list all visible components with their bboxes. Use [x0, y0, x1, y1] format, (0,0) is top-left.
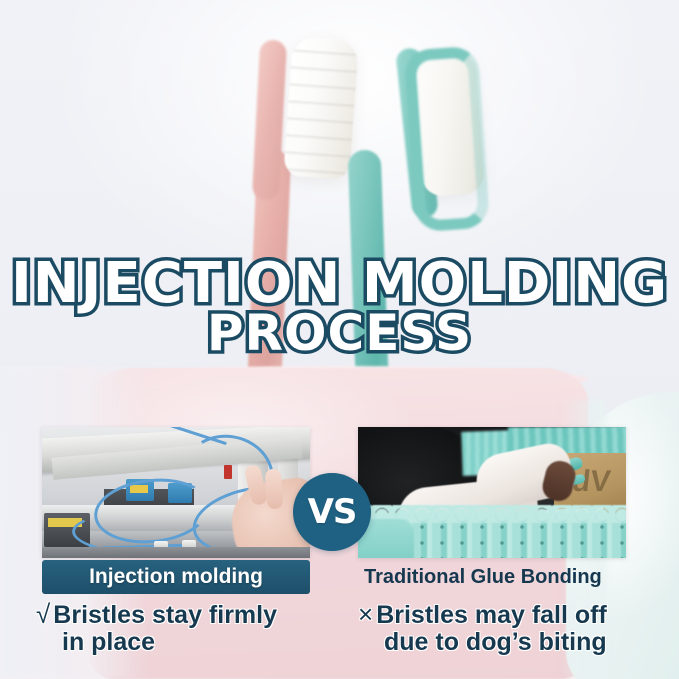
headline-line-2: PROCESS	[0, 310, 679, 356]
operator-finger-2	[265, 468, 284, 509]
left-method-label: Injection molding	[42, 560, 310, 594]
cross-mark-icon: ×	[358, 599, 376, 629]
left-benefit-line-2: in place	[36, 629, 356, 656]
glue-bonding-photo: dV	[358, 427, 626, 558]
page-title: INJECTION MOLDING PROCESS	[0, 258, 679, 356]
right-benefit-line-2: due to dog’s biting	[358, 629, 678, 656]
right-benefit-line-1: Bristles may fall off	[376, 601, 607, 629]
mint-toothbrush-head-ring	[404, 46, 491, 233]
left-method-label-text: Injection molding	[89, 565, 263, 589]
injection-molding-photo	[42, 427, 310, 558]
machine-base-shadow	[42, 547, 310, 558]
product-feature-poster: INJECTION MOLDING PROCESS d	[0, 0, 679, 679]
vs-badge-label: VS	[308, 492, 357, 532]
right-method-label: Traditional Glue Bonding	[358, 560, 626, 594]
pink-bristle-texture	[283, 36, 359, 180]
vs-badge: VS	[293, 473, 371, 551]
left-benefit-line-1: Bristles stay firmly	[53, 601, 277, 629]
right-method-label-text: Traditional Glue Bonding	[358, 566, 602, 589]
check-mark-icon: √	[36, 599, 53, 629]
left-benefit-text: √Bristles stay firmly in place	[36, 601, 356, 655]
right-benefit-text: ×Bristles may fall off due to dog’s biti…	[358, 601, 678, 655]
